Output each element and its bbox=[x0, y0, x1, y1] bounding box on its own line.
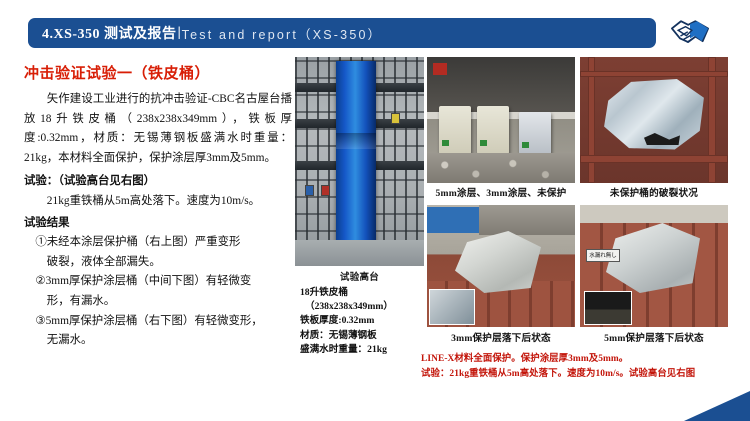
left-text-column: 冲击验证试验一（铁皮桶） 矢作建设工业进行的抗冲击验证-CBC名古屋台播放18升… bbox=[24, 62, 292, 351]
paragraph-intro: 矢作建设工业进行的抗冲击验证-CBC名古屋台播放18升铁皮桶（238x238x3… bbox=[24, 90, 292, 168]
test-tower-photo-block: 试验高台 bbox=[295, 57, 424, 266]
slide-title-bar: 4.XS-350 测试及报告 | Test and report（XS-350） bbox=[28, 18, 656, 48]
slide-canvas: 4.XS-350 测试及报告 | Test and report（XS-350）… bbox=[0, 0, 750, 421]
page-number-text: 19 bbox=[694, 402, 704, 412]
three-drums-caption: 5mm涂层、3mm涂层、未保护 bbox=[427, 185, 575, 199]
result-item-2: ②3mm厚保护涂层桶（中间下图）有轻微变 bbox=[24, 272, 292, 292]
spec-material: 材质：无锡薄钢板 bbox=[300, 329, 424, 343]
handshake-logo-icon bbox=[668, 14, 712, 52]
drum-spec-block: 18升铁皮桶 （238x238x349mm） 铁板厚度:0.32mm 材质：无锡… bbox=[300, 286, 424, 357]
no-water-leak-label: 水漏れ無し bbox=[586, 249, 620, 262]
subheading-result: 试验结果 bbox=[24, 214, 292, 234]
slide-title-en: Test and report（XS-350） bbox=[182, 24, 383, 43]
bottom-note-line-2: 试验：21kg重铁桶从5m高处落下。速度为10m/s。试验高台见右图 bbox=[421, 367, 741, 382]
result-item-1-cont: 破裂，液体全部漏失。 bbox=[24, 253, 292, 273]
page-number-badge: 19 bbox=[680, 390, 750, 421]
result-item-3: ③5mm厚保护涂层桶（右下图）有轻微变形， bbox=[24, 312, 292, 332]
result-item-1: ①未经本涂层保护桶（右上图）严重变形 bbox=[24, 233, 292, 253]
drum-3mm-caption: 3mm保护层落下后状态 bbox=[427, 330, 575, 344]
drum-3mm-after-drop-photo bbox=[427, 205, 575, 327]
unprotected-burst-drum-caption: 未保护桶的破裂状况 bbox=[580, 185, 728, 199]
spec-dimensions: （238x238x349mm） bbox=[300, 300, 424, 314]
spec-thickness: 铁板厚度:0.32mm bbox=[300, 314, 424, 328]
slide-title-cn: 4.XS-350 测试及报告 bbox=[42, 23, 177, 43]
three-drums-photo bbox=[427, 57, 575, 183]
subheading-test: 试验：（试验高台见右图） bbox=[24, 172, 292, 192]
drum-5mm-caption: 5mm保护层落下后状态 bbox=[580, 330, 728, 344]
unprotected-burst-drum-photo bbox=[580, 57, 728, 183]
bottom-summary-note: LINE-X材料全面保护。保护涂层厚3mm及5mm。 试验：21kg重铁桶从5m… bbox=[421, 352, 741, 382]
drum-5mm-after-drop-photo: 水漏れ無し bbox=[580, 205, 728, 327]
test-tower-photo bbox=[295, 57, 424, 266]
spec-weight: 盛满水时重量：21kg bbox=[300, 343, 424, 357]
bottom-note-line-1: LINE-X材料全面保护。保护涂层厚3mm及5mm。 bbox=[421, 352, 741, 367]
test-detail-text: 21kg重铁桶从5m高处落下。速度为10m/s。 bbox=[24, 192, 292, 212]
section-heading: 冲击验证试验一（铁皮桶） bbox=[24, 62, 292, 83]
result-item-2-cont: 形，有漏水。 bbox=[24, 292, 292, 312]
result-item-3-cont: 无漏水。 bbox=[24, 331, 292, 351]
spec-title: 18升铁皮桶 bbox=[300, 286, 424, 300]
test-tower-caption: 试验高台 bbox=[295, 269, 424, 283]
